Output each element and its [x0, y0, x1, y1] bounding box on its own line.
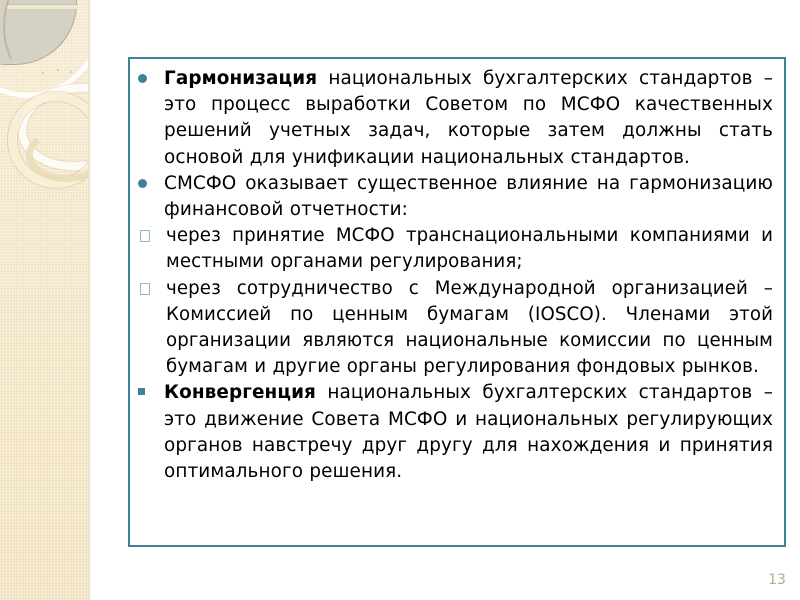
- decorative-sidebar: [0, 0, 88, 600]
- bullet-paragraph: через сотрудничество с Международной орг…: [166, 276, 775, 381]
- speck-dot-icon: [57, 69, 59, 71]
- bullet-marker-hollow-square: [138, 276, 166, 295]
- round-dot-icon: [138, 74, 147, 83]
- content-text-box: Гармонизация национальных бухгалтерских …: [128, 57, 786, 547]
- bullet-body-text: СМСФО оказывает существенное влияние на …: [164, 173, 773, 220]
- bullet-marker-round: [138, 171, 164, 188]
- bullet-item-sub: через принятие МСФО транснациональными к…: [138, 223, 775, 275]
- bullet-item: Конвергенция национальных бухгалтерских …: [138, 380, 775, 485]
- bullet-paragraph: СМСФО оказывает существенное влияние на …: [164, 171, 775, 223]
- bullet-item: СМСФО оказывает существенное влияние на …: [138, 171, 775, 223]
- solid-square-icon: [138, 388, 145, 395]
- bullet-body-text: через сотрудничество с Международной орг…: [166, 278, 773, 378]
- bullet-marker-hollow-square: [138, 223, 166, 242]
- bullet-paragraph: через принятие МСФО транснациональными к…: [166, 223, 775, 275]
- bullet-marker-solid-square: [138, 380, 164, 395]
- bullet-marker-round: [138, 66, 164, 83]
- sidebar-edge-gradient: [88, 0, 92, 600]
- hollow-square-icon: [140, 283, 150, 295]
- bullet-paragraph: Гармонизация национальных бухгалтерских …: [164, 66, 775, 171]
- page-number: 13: [760, 572, 794, 588]
- bullet-item: Гармонизация национальных бухгалтерских …: [138, 66, 775, 171]
- slide-canvas: Гармонизация национальных бухгалтерских …: [0, 0, 800, 600]
- speck-dot-icon: [42, 72, 44, 74]
- bullet-lead-text: Гармонизация: [164, 68, 317, 89]
- hollow-square-icon: [140, 230, 150, 242]
- round-dot-icon: [138, 179, 147, 188]
- bullet-item-sub: через сотрудничество с Международной орг…: [138, 276, 775, 381]
- bullet-paragraph: Конвергенция национальных бухгалтерских …: [164, 380, 775, 485]
- speck-dot-icon: [70, 71, 72, 73]
- bullet-lead-text: Конвергенция: [164, 382, 316, 403]
- bullet-body-text: через принятие МСФО транснациональными к…: [166, 225, 773, 272]
